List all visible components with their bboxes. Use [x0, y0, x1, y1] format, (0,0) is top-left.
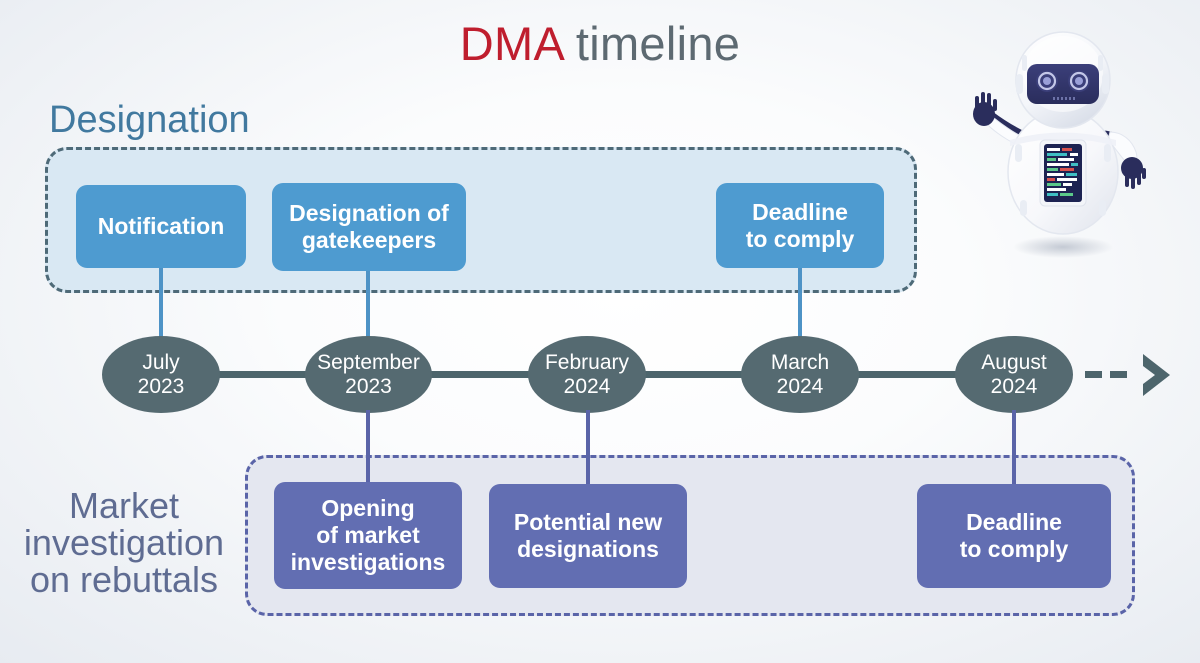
arrow-right-icon: [1138, 350, 1178, 400]
connector-deadline-to-comply-top: [798, 268, 802, 340]
timeline-node-august-2024[interactable]: August 2024: [955, 336, 1073, 413]
event-box-deadline-to-comply-bottom[interactable]: Deadline to comply: [917, 484, 1111, 588]
node-month: March: [771, 351, 829, 374]
connector-designation-of-gatekeepers: [366, 268, 370, 340]
node-year: 2023: [345, 375, 392, 398]
robot-mascot-icon: [960, 22, 1160, 272]
connector-deadline-to-comply-bottom: [1012, 410, 1016, 490]
node-year: 2024: [777, 375, 824, 398]
event-box-opening-of-market-investigations[interactable]: Opening of market investigations: [274, 482, 462, 589]
node-month: February: [545, 351, 629, 374]
market-investigation-section-caption: Market investigation on rebuttals: [8, 487, 240, 598]
timeline-node-march-2024[interactable]: March 2024: [741, 336, 859, 413]
timeline-node-july-2023[interactable]: July 2023: [102, 336, 220, 413]
node-year: 2024: [564, 375, 611, 398]
title-accent: DMA: [460, 17, 563, 70]
event-box-notification[interactable]: Notification: [76, 185, 246, 268]
designation-section-caption: Designation: [49, 101, 250, 140]
node-month: September: [317, 351, 420, 374]
connector-opening-of-market-investigations: [366, 410, 370, 490]
timeline-node-september-2023[interactable]: September 2023: [305, 336, 432, 413]
connector-potential-new-designations: [586, 410, 590, 490]
event-box-deadline-to-comply-top[interactable]: Deadline to comply: [716, 183, 884, 268]
title-rest: timeline: [563, 17, 741, 70]
connector-notification: [159, 268, 163, 340]
node-year: 2024: [991, 375, 1038, 398]
dma-timeline-infographic: DMA timeline Designation Notification De…: [0, 0, 1200, 663]
timeline-node-february-2024[interactable]: February 2024: [528, 336, 646, 413]
timeline-continues-dash-1: [1085, 371, 1102, 378]
node-year: 2023: [138, 375, 185, 398]
node-month: August: [981, 351, 1046, 374]
event-box-potential-new-designations[interactable]: Potential new designations: [489, 484, 687, 588]
node-month: July: [142, 351, 179, 374]
event-box-designation-of-gatekeepers[interactable]: Designation of gatekeepers: [272, 183, 466, 271]
axis-segment-4: [842, 371, 956, 378]
timeline-continues-dash-2: [1110, 371, 1127, 378]
